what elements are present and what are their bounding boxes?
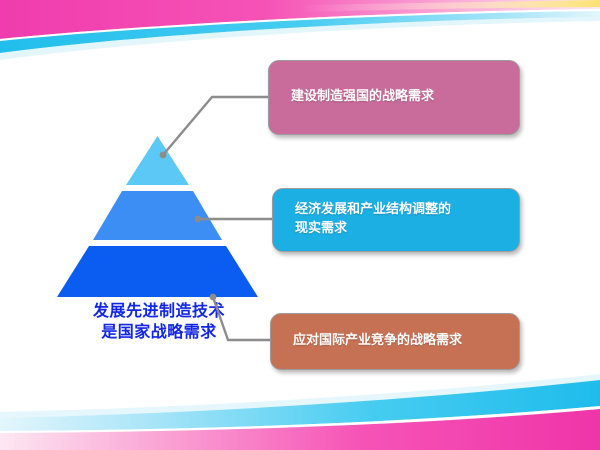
callout-box-economic-development-need[interactable]: 经济发展和产业结构调整的 现实需求 bbox=[272, 188, 520, 252]
connector-dot-1 bbox=[160, 152, 167, 159]
callout-box-international-competition-need[interactable]: 应对国际产业竞争的战略需求 bbox=[270, 313, 520, 370]
callout-3-label: 应对国际产业竞争的战略需求 bbox=[293, 332, 462, 351]
callout-2-label: 经济发展和产业结构调整的 现实需求 bbox=[295, 201, 451, 239]
slide-canvas: 发展先进制造技术 是国家战略需求 建设制造强国的战略需求 经济发展和产业结构调整… bbox=[0, 0, 600, 450]
connector-dot-3 bbox=[210, 294, 217, 301]
connector-line-1 bbox=[163, 97, 268, 155]
callout-box-strategic-need-manufacturing-power[interactable]: 建设制造强国的战略需求 bbox=[268, 60, 520, 135]
connector-line-3 bbox=[213, 297, 270, 340]
callout-1-label: 建设制造强国的战略需求 bbox=[291, 88, 434, 107]
connector-dot-2 bbox=[195, 216, 202, 223]
